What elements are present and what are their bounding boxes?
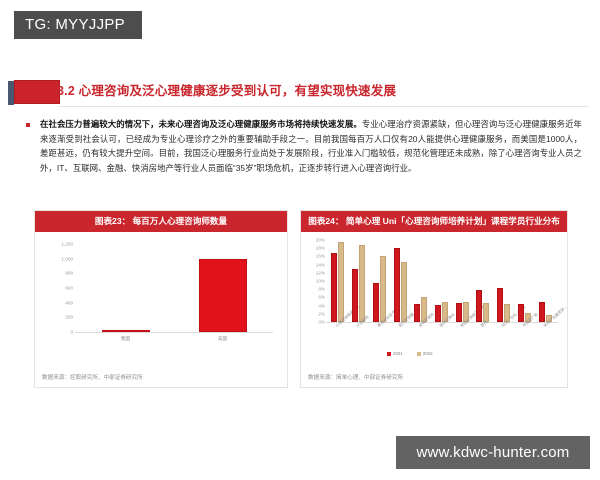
- chart-24-bar-group: [352, 240, 366, 322]
- chart-23-title: 图表23： 每百万人心理咨询师数量: [35, 211, 287, 232]
- chart-24-source: 数据来源：简单心理、中部证券研究所: [308, 373, 403, 381]
- paragraph-lead: 在社会压力普遍较大的情况下，未来心理咨询及泛心理健康服务市场将持续快速发展。: [40, 119, 362, 129]
- chart-24-bar-group: [539, 240, 553, 322]
- chart-24-y-tick: 12%: [316, 270, 325, 275]
- chart-23-x-tick: 我国: [121, 336, 130, 342]
- chart-23-y-axis: 1,2001,0008006004002000: [51, 244, 73, 332]
- chart-24-bar: [359, 245, 365, 322]
- chart-24-bar: [380, 256, 386, 322]
- chart-24-bar: [539, 302, 545, 322]
- chart-23-y-tick: 200: [65, 315, 73, 320]
- chart-23-y-tick: 1,200: [62, 242, 74, 247]
- chart-24-bar: [518, 304, 524, 322]
- chart-24-legend-label: 2022: [423, 351, 433, 356]
- chart-24-title: 图表24： 简单心理 Uni「心理咨询师培养计划」课程学员行业分布: [301, 211, 567, 232]
- section-marker-icon: [14, 80, 60, 104]
- chart-23-bars: 我国美国: [77, 244, 271, 332]
- chart-24-y-tick: 14%: [316, 262, 325, 267]
- chart-24-bar: [352, 269, 358, 322]
- chart-24-y-tick: 18%: [316, 246, 325, 251]
- chart-24-bar-group: [476, 240, 490, 322]
- chart-24-plot: 20%18%16%14%12%10%8%6%4%2%0% 心理咨询相关行业IT互…: [309, 240, 561, 360]
- chart-23-x-axis-line: [75, 332, 273, 333]
- chart-24-legend-label: 2021: [393, 351, 403, 356]
- chart-24-bar: [338, 242, 344, 322]
- chart-24-y-tick: 10%: [316, 279, 325, 284]
- chart-24-y-tick: 16%: [316, 254, 325, 259]
- body-paragraph: 在社会压力普遍较大的情况下，未来心理咨询及泛心理健康服务市场将持续快速发展。专业…: [40, 117, 582, 175]
- slide-page: TG: MYYJJPP 3.2 心理咨询及泛心理健康逐步受到认可，有望实现快速发…: [0, 0, 600, 480]
- page-title: 3.2 心理咨询及泛心理健康逐步受到认可，有望实现快速发展: [57, 80, 396, 102]
- chart-24-bar: [373, 283, 379, 322]
- chart-24-bar: [476, 290, 482, 322]
- chart-24-y-tick: 4%: [318, 303, 325, 308]
- chart-23-y-tick: 800: [65, 271, 73, 276]
- chart-24-bars: 心理咨询相关行业IT互联网教育培训及学术…医疗及保健金融及保险政府及事业制造业及…: [328, 240, 556, 322]
- chart-24-bar: [414, 304, 420, 322]
- chart-24-legend: 20212022: [387, 351, 447, 356]
- legend-swatch-icon: [417, 352, 421, 356]
- chart-23-source: 数据来源：控股研究所、中部证券研究所: [42, 373, 143, 381]
- chart-24-y-tick: 2%: [318, 311, 325, 316]
- chart-23-bar: [199, 259, 247, 332]
- chart-24-bar: [394, 248, 400, 322]
- chart-24-bar: [456, 303, 462, 322]
- site-watermark-badge: www.kdwc-hunter.com: [396, 436, 590, 469]
- chart-panel-24: 图表24： 简单心理 Uni「心理咨询师培养计划」课程学员行业分布 20%18%…: [300, 210, 568, 388]
- chart-24-y-tick: 8%: [318, 287, 325, 292]
- chart-24-bar: [331, 253, 337, 322]
- chart-24-bar: [401, 262, 407, 322]
- chart-24-y-tick: 0%: [318, 320, 325, 325]
- chart-23-y-tick: 0: [70, 330, 73, 335]
- chart-24-bar: [435, 305, 441, 322]
- chart-24-y-tick: 6%: [318, 295, 325, 300]
- chart-24-bar-group: [414, 240, 428, 322]
- section-heading-row: 3.2 心理咨询及泛心理健康逐步受到认可，有望实现快速发展: [0, 76, 600, 106]
- chart-24-legend-item: 2022: [417, 351, 433, 356]
- chart-panel-23: 图表23： 每百万人心理咨询师数量 1,2001,000800600400200…: [34, 210, 288, 388]
- telegram-watermark-badge: TG: MYYJJPP: [14, 11, 142, 39]
- chart-24-bar-group: [373, 240, 387, 322]
- chart-23-y-tick: 400: [65, 300, 73, 305]
- chart-23-x-tick: 美国: [218, 336, 227, 342]
- chart-24-body: 20%18%16%14%12%10%8%6%4%2%0% 心理咨询相关行业IT互…: [301, 232, 567, 365]
- bullet-square-icon: [26, 123, 30, 127]
- chart-24-bar-group: [456, 240, 470, 322]
- body-paragraph-block: 在社会压力普遍较大的情况下，未来心理咨询及泛心理健康服务市场将持续快速发展。专业…: [26, 117, 582, 175]
- chart-23-y-tick: 1,000: [62, 256, 74, 261]
- chart-24-bar-group: [518, 240, 532, 322]
- chart-23-plot: 1,2001,0008006004002000 我国美国: [51, 244, 273, 348]
- legend-swatch-icon: [387, 352, 391, 356]
- chart-24-y-tick: 20%: [316, 238, 325, 243]
- chart-23-body: 1,2001,0008006004002000 我国美国: [35, 232, 287, 365]
- chart-24-bar: [497, 288, 503, 322]
- chart-24-legend-item: 2021: [387, 351, 403, 356]
- chart-24-bar: [483, 303, 489, 322]
- chart-24-bar-group: [394, 240, 408, 322]
- heading-divider: [58, 106, 588, 107]
- chart-24-bar-group: [331, 240, 345, 322]
- chart-23-bar: [102, 330, 150, 332]
- chart-24-y-axis: 20%18%16%14%12%10%8%6%4%2%0%: [309, 240, 325, 322]
- chart-23-y-tick: 600: [65, 286, 73, 291]
- chart-24-bar-group: [435, 240, 449, 322]
- chart-24-bar-group: [497, 240, 511, 322]
